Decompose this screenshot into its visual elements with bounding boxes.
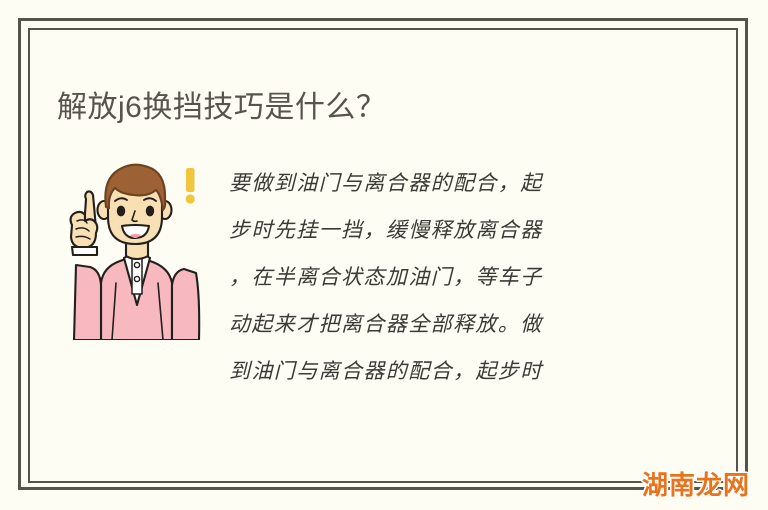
exclamation-mark-icon bbox=[186, 168, 195, 204]
cartoon-man-pointing-up-illustration bbox=[60, 155, 210, 340]
site-watermark: 湖南龙网 bbox=[642, 465, 750, 502]
body-line: 步时先挂一挡，缓慢释放离合器 bbox=[229, 207, 654, 254]
body-line: 动起来才把离合器全部释放。做 bbox=[229, 301, 654, 348]
sweater-left-sleeve bbox=[74, 265, 101, 340]
body-line: 到油门与离合器的配合，起步时 bbox=[229, 348, 654, 395]
sweater-right-sleeve bbox=[172, 269, 199, 340]
shirt-button-top bbox=[134, 262, 139, 267]
body-line: 要做到油门与离合器的配合，起 bbox=[229, 160, 654, 207]
article-body: 要做到油门与离合器的配合，起 步时先挂一挡，缓慢释放离合器 ，在半离合状态加油门… bbox=[229, 160, 654, 395]
shirt-cuff-left bbox=[72, 247, 97, 255]
article-content: 要做到油门与离合器的配合，起 步时先挂一挡，缓慢释放离合器 ，在半离合状态加油门… bbox=[57, 150, 677, 380]
shirt-button-bottom bbox=[134, 276, 139, 281]
eye-right bbox=[146, 206, 154, 217]
article-card: 解放j6换挡技巧是什么？ bbox=[0, 0, 768, 510]
eye-left bbox=[117, 206, 125, 217]
body-line: ，在半离合状态加油门，等车子 bbox=[229, 254, 654, 301]
page-title: 解放j6换挡技巧是什么？ bbox=[57, 88, 386, 128]
